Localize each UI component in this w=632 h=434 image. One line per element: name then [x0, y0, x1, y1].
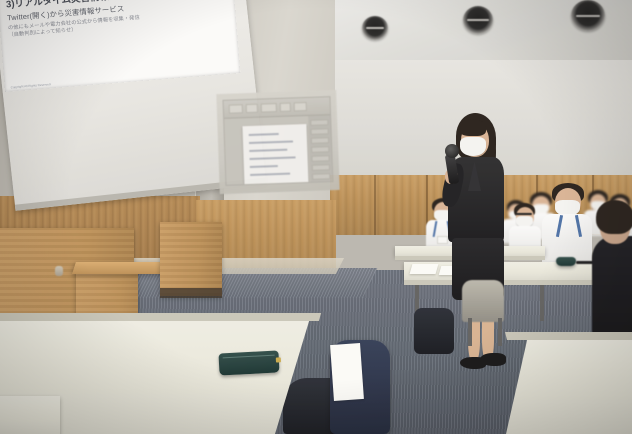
audience-chair-1 [462, 280, 504, 322]
foreground-person-right-hair [596, 200, 632, 234]
foreground-table-left-edge [0, 313, 321, 321]
ceiling-speaker-center-icon [463, 6, 493, 34]
chair-leg-1 [468, 318, 472, 346]
foreground-table-right [506, 336, 632, 434]
table-leg-2 [540, 285, 544, 321]
ceiling-speaker-right-icon [571, 0, 605, 31]
eyeglasses-worn [516, 213, 532, 215]
presenter-face-mask [460, 137, 486, 156]
slide-content: 等のネットワーク契約を行い、伝送データを送信 等の異常検知時に即時通知の方法 3… [0, 0, 240, 92]
microphone-head-icon [445, 144, 459, 158]
app-sidebar [308, 115, 332, 182]
floor-bag-1 [414, 308, 454, 354]
name-card [437, 236, 448, 244]
lecture-hall-photo: 等のネットワーク契約を行い、伝送データを送信 等の異常検知時に即時通知の方法 3… [0, 0, 632, 434]
audience-pouch [556, 257, 576, 266]
podium-small-object [55, 266, 63, 276]
foreground-table-far-left [0, 396, 60, 434]
podium-block-right [160, 222, 222, 296]
podium-base-shadow [160, 288, 222, 298]
chair-papers [330, 343, 364, 401]
lectern-top [72, 262, 170, 274]
chair-leg-2 [498, 318, 502, 346]
foreground-table-right-edge [505, 332, 632, 340]
slide-footer: Copyright All Rights Reserved. [11, 82, 52, 89]
ceiling-speaker-left-icon [362, 16, 388, 40]
projected-document-preview [242, 124, 308, 184]
presenter-shoe-right [480, 353, 506, 366]
projected-app-window [222, 96, 333, 186]
pencil-case [218, 350, 279, 375]
handout-paper-1 [410, 264, 439, 274]
secondary-projection [216, 90, 339, 194]
